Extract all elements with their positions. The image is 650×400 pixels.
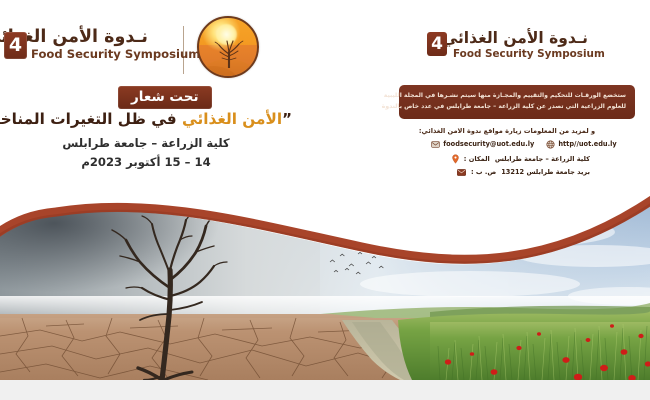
more-info-text: و لمزيد من المعلومات زيارة مواقع ندوة ال… <box>382 127 632 135</box>
edition-number-badge: 4 <box>4 32 27 59</box>
brand-title-english-right: Food Security Symposium <box>425 48 615 60</box>
slogan-highlight: الأمن الغذائي <box>182 110 282 128</box>
location-value: كلية الزراعة – جامعة طرابلس <box>495 155 590 163</box>
right-panel: 4 نـدوة الأمن الغذائي Food Security Symp… <box>382 0 650 196</box>
right-brand-lockup: 4 نـدوة الأمن الغذائي Food Security Symp… <box>425 30 615 76</box>
left-brand-lockup: 4 نـدوة الأمن الغذائي Food Security Symp… <box>0 28 178 62</box>
bottom-background-strip <box>0 380 650 400</box>
pobox-line: ص. ب : بريد جامعة طرابلس 13212 <box>457 168 590 176</box>
location-label: المكان : <box>464 155 490 163</box>
location-pin-icon <box>452 154 459 164</box>
location-line: المكان : كلية الزراعة – جامعة طرابلس <box>452 154 590 164</box>
publication-note-box: ستخضع الورقـات للتحكيم والتقييم والمجـاز… <box>399 85 635 119</box>
slogan-rest: في ظل التغيرات المناخية <box>0 110 182 128</box>
date-text: 14 – 15 أكتوبر 2023م <box>0 155 292 169</box>
left-panel: 4 نـدوة الأمن الغذائي Food Security Symp… <box>0 0 330 196</box>
poster-canvas: 4 نـدوة الأمن الغذائي Food Security Symp… <box>0 0 650 400</box>
email-contact[interactable]: foodsecurity@uot.edu.ly <box>431 140 534 149</box>
pobox-label: ص. ب : <box>471 168 496 176</box>
climate-split-landscape-photo <box>0 196 650 380</box>
dead-tree-icon <box>214 38 244 68</box>
slogan-headline: ”الأمن الغذائي في ظل التغيرات المناخية“ <box>0 110 292 128</box>
sun-dead-tree-desert-emblem <box>197 16 259 78</box>
globe-icon <box>546 140 555 149</box>
landscape-illustration <box>0 196 650 380</box>
publication-note-line-1: ستخضع الورقـات للتحكيم والتقييم والمجـاز… <box>408 90 626 101</box>
envelope-icon-pobox <box>457 169 466 176</box>
slogan-chip: تحت شعار <box>118 86 212 109</box>
envelope-icon <box>431 140 440 149</box>
pobox-value: بريد جامعة طرابلس 13212 <box>501 168 590 176</box>
quote-open: ” <box>282 110 292 128</box>
publication-note-line-2: للعلوم الزراعية التي تصدر عن كلية الزراع… <box>408 101 626 112</box>
venue-text: كلية الزراعة – جامعة طرابلس <box>0 136 292 150</box>
contact-links-row: foodsecurity@uot.edu.ly http//uot.edu.ly <box>416 137 632 151</box>
edition-number-badge-right: 4 <box>427 32 447 56</box>
website-contact[interactable]: http//uot.edu.ly <box>546 140 616 149</box>
brand-title-arabic-right: نـدوة الأمن الغذائي <box>425 30 615 47</box>
email-text: foodsecurity@uot.edu.ly <box>443 140 534 148</box>
website-text: http//uot.edu.ly <box>558 140 616 148</box>
